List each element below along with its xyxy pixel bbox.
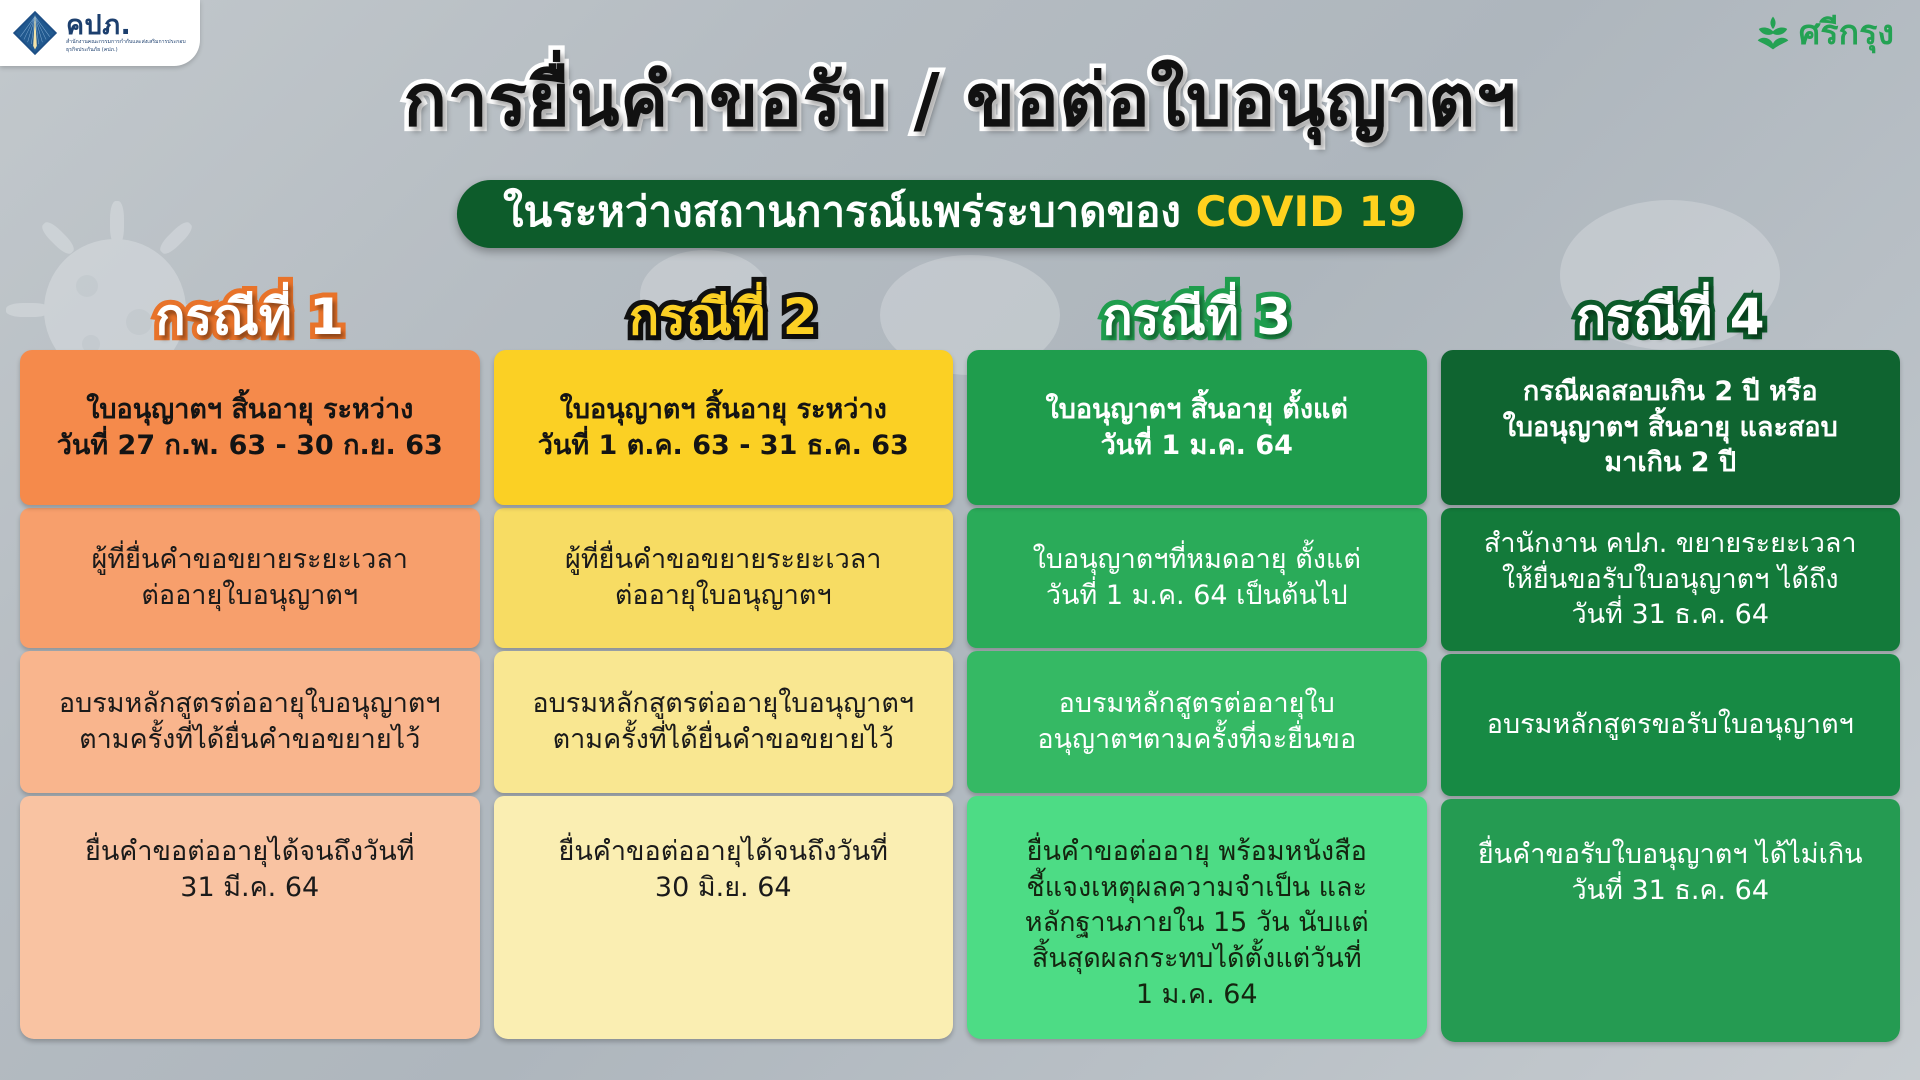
case-4-header-cell: กรณีผลสอบเกิน 2 ปี หรือ ใบอนุญาตฯ สิ้นอา… — [1441, 350, 1901, 505]
case-2-row-3: ยื่นคำขอต่ออายุได้จนถึงวันที่ 30 มิ.ย. 6… — [494, 796, 954, 1039]
oic-diamond-logo-icon — [12, 10, 58, 56]
oic-logo-card: คปภ. สำนักงานคณะกรรมการกำกับและส่งเสริมก… — [0, 0, 200, 66]
case-column-4: กรณีที่ 4 กรณีผลสอบเกิน 2 ปี หรือ ใบอนุญ… — [1441, 350, 1901, 1042]
page-title: การยื่นคำขอรับ / ขอต่อใบอนุญาตฯ — [0, 62, 1920, 140]
case-4-row-3: ยื่นคำขอรับใบอนุญาตฯ ได้ไม่เกิน วันที่ 3… — [1441, 799, 1901, 1042]
case-1-row-2: อบรมหลักสูตรต่ออายุใบอนุญาตฯ ตามครั้งที่… — [20, 651, 480, 793]
oic-logo-fullname: สำนักงานคณะกรรมการกำกับและส่งเสริมการประ… — [66, 39, 190, 54]
case-2-badge: กรณีที่ 2 — [494, 292, 954, 342]
case-1-badge: กรณีที่ 1 — [20, 292, 480, 342]
case-4-row-2: อบรมหลักสูตรขอรับใบอนุญาตฯ — [1441, 654, 1901, 796]
sprout-leaf-icon — [1756, 14, 1790, 52]
case-2-row-2: อบรมหลักสูตรต่ออายุใบอนุญาตฯ ตามครั้งที่… — [494, 651, 954, 793]
case-3-row-3: ยื่นคำขอต่ออายุ พร้อมหนังสือ ชี้แจงเหตุผ… — [967, 796, 1427, 1039]
case-3-badge: กรณีที่ 3 — [967, 292, 1427, 342]
subtitle-prefix: ในระหว่างสถานการณ์แพร่ระบาดของ — [503, 187, 1196, 236]
srikrung-brand: ศรีกรุง — [1756, 14, 1894, 52]
case-column-1: กรณีที่ 1 ใบอนุญาตฯ สิ้นอายุ ระหว่าง วัน… — [20, 350, 480, 1042]
case-column-3: กรณีที่ 3 ใบอนุญาตฯ สิ้นอายุ ตั้งแต่ วัน… — [967, 350, 1427, 1042]
case-1-row-1: ผู้ที่ยื่นคำขอขยายระยะเวลา ต่ออายุใบอนุญ… — [20, 508, 480, 648]
case-3-row-1: ใบอนุญาตฯที่หมดอายุ ตั้งแต่ วันที่ 1 ม.ค… — [967, 508, 1427, 648]
case-1-row-3: ยื่นคำขอต่ออายุได้จนถึงวันที่ 31 มี.ค. 6… — [20, 796, 480, 1039]
case-3-row-2: อบรมหลักสูตรต่ออายุใบ อนุญาตฯตามครั้งที่… — [967, 651, 1427, 793]
case-2-row-1: ผู้ที่ยื่นคำขอขยายระยะเวลา ต่ออายุใบอนุญ… — [494, 508, 954, 648]
subtitle-banner: ในระหว่างสถานการณ์แพร่ระบาดของ COVID 19 — [457, 180, 1463, 248]
case-3-header-cell: ใบอนุญาตฯ สิ้นอายุ ตั้งแต่ วันที่ 1 ม.ค.… — [967, 350, 1427, 505]
oic-logo-abbr: คปภ. — [66, 12, 190, 39]
subtitle-covid-highlight: COVID 19 — [1196, 187, 1417, 236]
case-4-row-1: สำนักงาน คปภ. ขยายระยะเวลา ให้ยื่นขอรับใ… — [1441, 508, 1901, 651]
case-2-header-cell: ใบอนุญาตฯ สิ้นอายุ ระหว่าง วันที่ 1 ต.ค.… — [494, 350, 954, 505]
subtitle-text: ในระหว่างสถานการณ์แพร่ระบาดของ COVID 19 — [503, 189, 1417, 235]
case-1-header-cell: ใบอนุญาตฯ สิ้นอายุ ระหว่าง วันที่ 27 ก.พ… — [20, 350, 480, 505]
case-column-2: กรณีที่ 2 ใบอนุญาตฯ สิ้นอายุ ระหว่าง วัน… — [494, 350, 954, 1042]
srikrung-brand-name: ศรีกรุง — [1799, 16, 1894, 50]
case-4-badge: กรณีที่ 4 — [1441, 292, 1901, 342]
cases-grid: กรณีที่ 1 ใบอนุญาตฯ สิ้นอายุ ระหว่าง วัน… — [20, 350, 1900, 1042]
